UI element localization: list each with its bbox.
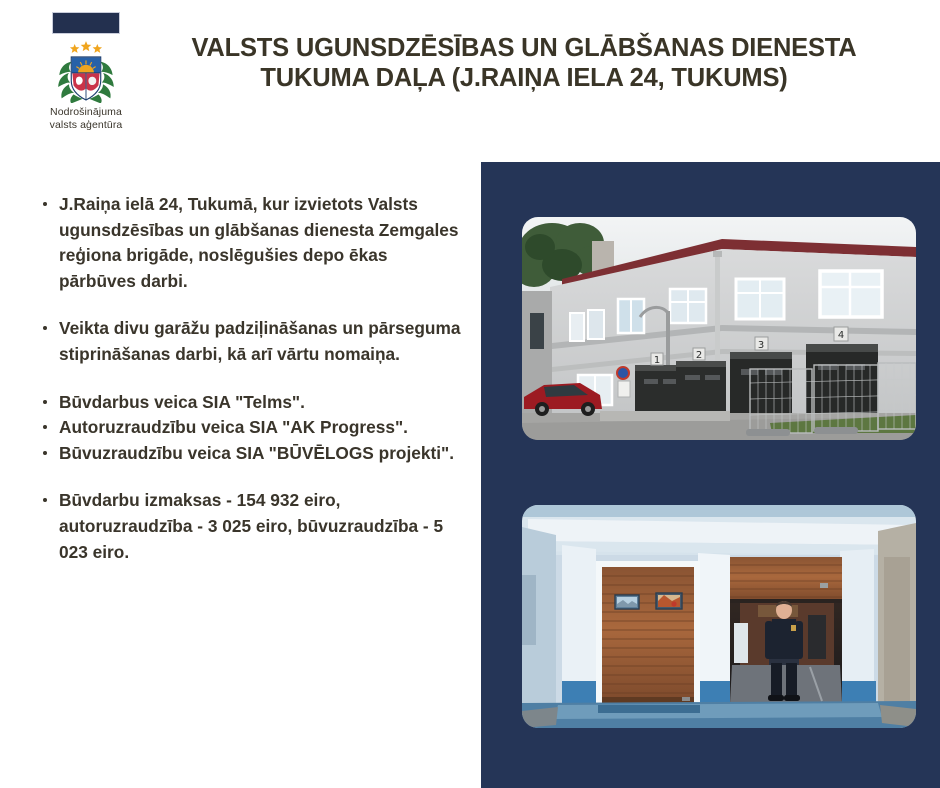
svg-text:1: 1 bbox=[654, 355, 660, 366]
bullet-group-2: Veikta divu garāžu padziļināšanas un pār… bbox=[34, 316, 464, 367]
list-item: Būvdarbus veica SIA "Telms". bbox=[34, 390, 464, 416]
logo-caption-line1: Nodrošinājuma bbox=[30, 106, 142, 119]
logo-caption: Nodrošinājuma valsts aģentūra bbox=[30, 106, 142, 132]
bullet-group-4: Būvdarbu izmaksas - 154 932 eiro, autoru… bbox=[34, 488, 464, 565]
logo-caption-line2: valsts aģentūra bbox=[30, 119, 142, 132]
list-item: Veikta divu garāžu padziļināšanas un pār… bbox=[34, 316, 464, 367]
photo-renovated-garage-after bbox=[522, 505, 916, 728]
logo-navy-bar bbox=[52, 12, 120, 34]
latvia-coat-of-arms-icon bbox=[52, 40, 120, 102]
list-item: J.Raiņa ielā 24, Tukumā, kur izvietots V… bbox=[34, 192, 464, 294]
svg-text:3: 3 bbox=[758, 340, 764, 351]
content-column: J.Raiņa ielā 24, Tukumā, kur izvietots V… bbox=[34, 192, 464, 565]
list-item: Būvdarbu izmaksas - 154 932 eiro, autoru… bbox=[34, 488, 464, 565]
photo-fire-station-before: 1 2 3 4 bbox=[522, 217, 916, 440]
bullet-group-1: J.Raiņa ielā 24, Tukumā, kur izvietots V… bbox=[34, 192, 464, 294]
page-title: VALSTS UGUNSDZĒSĪBAS UN GLĀBŠANAS DIENES… bbox=[168, 33, 880, 93]
agency-logo: Nodrošinājuma valsts aģentūra bbox=[30, 12, 142, 132]
svg-text:2: 2 bbox=[696, 350, 702, 361]
list-item: Būvuzraudzību veica SIA "BŪVĒLOGS projek… bbox=[34, 441, 464, 467]
bullet-list-2: Veikta divu garāžu padziļināšanas un pār… bbox=[34, 316, 464, 367]
svg-text:4: 4 bbox=[838, 330, 844, 341]
bullet-list-4: Būvdarbu izmaksas - 154 932 eiro, autoru… bbox=[34, 488, 464, 565]
bullet-list-3: Būvdarbus veica SIA "Telms". Autoruzraud… bbox=[34, 390, 464, 467]
bullet-list-1: J.Raiņa ielā 24, Tukumā, kur izvietots V… bbox=[34, 192, 464, 294]
bullet-group-3: Būvdarbus veica SIA "Telms". Autoruzraud… bbox=[34, 390, 464, 467]
list-item: Autoruzraudzību veica SIA "AK Progress". bbox=[34, 415, 464, 441]
poster-root: Nodrošinājuma valsts aģentūra VALSTS UGU… bbox=[0, 0, 940, 788]
